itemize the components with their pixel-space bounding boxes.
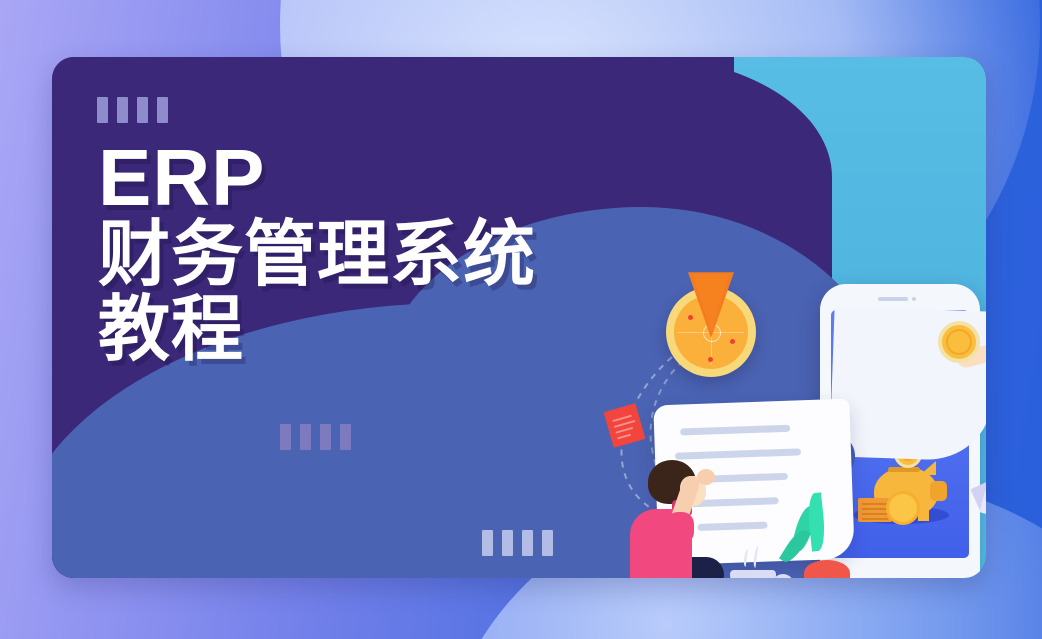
large-coin — [886, 491, 920, 525]
clock-marker-dot — [688, 315, 693, 320]
seated-person-hand — [697, 469, 715, 485]
piggy-bank-snout — [930, 481, 947, 501]
phone-speaker — [878, 297, 908, 301]
coffee-cup-icon — [730, 570, 776, 578]
clock-timer-icon — [666, 287, 756, 377]
clock-marker-dot — [730, 339, 735, 344]
poster-canvas: ERP 财务管理系统 教程 — [0, 0, 1042, 639]
phone-camera-dot — [912, 297, 916, 301]
clock-marker-dot — [708, 357, 713, 362]
piggy-bank-slot — [888, 467, 920, 472]
seated-person-sleeve — [666, 512, 694, 544]
poster-card: ERP 财务管理系统 教程 — [52, 57, 986, 578]
held-coin-icon — [938, 321, 980, 363]
illustration-group — [52, 57, 986, 578]
